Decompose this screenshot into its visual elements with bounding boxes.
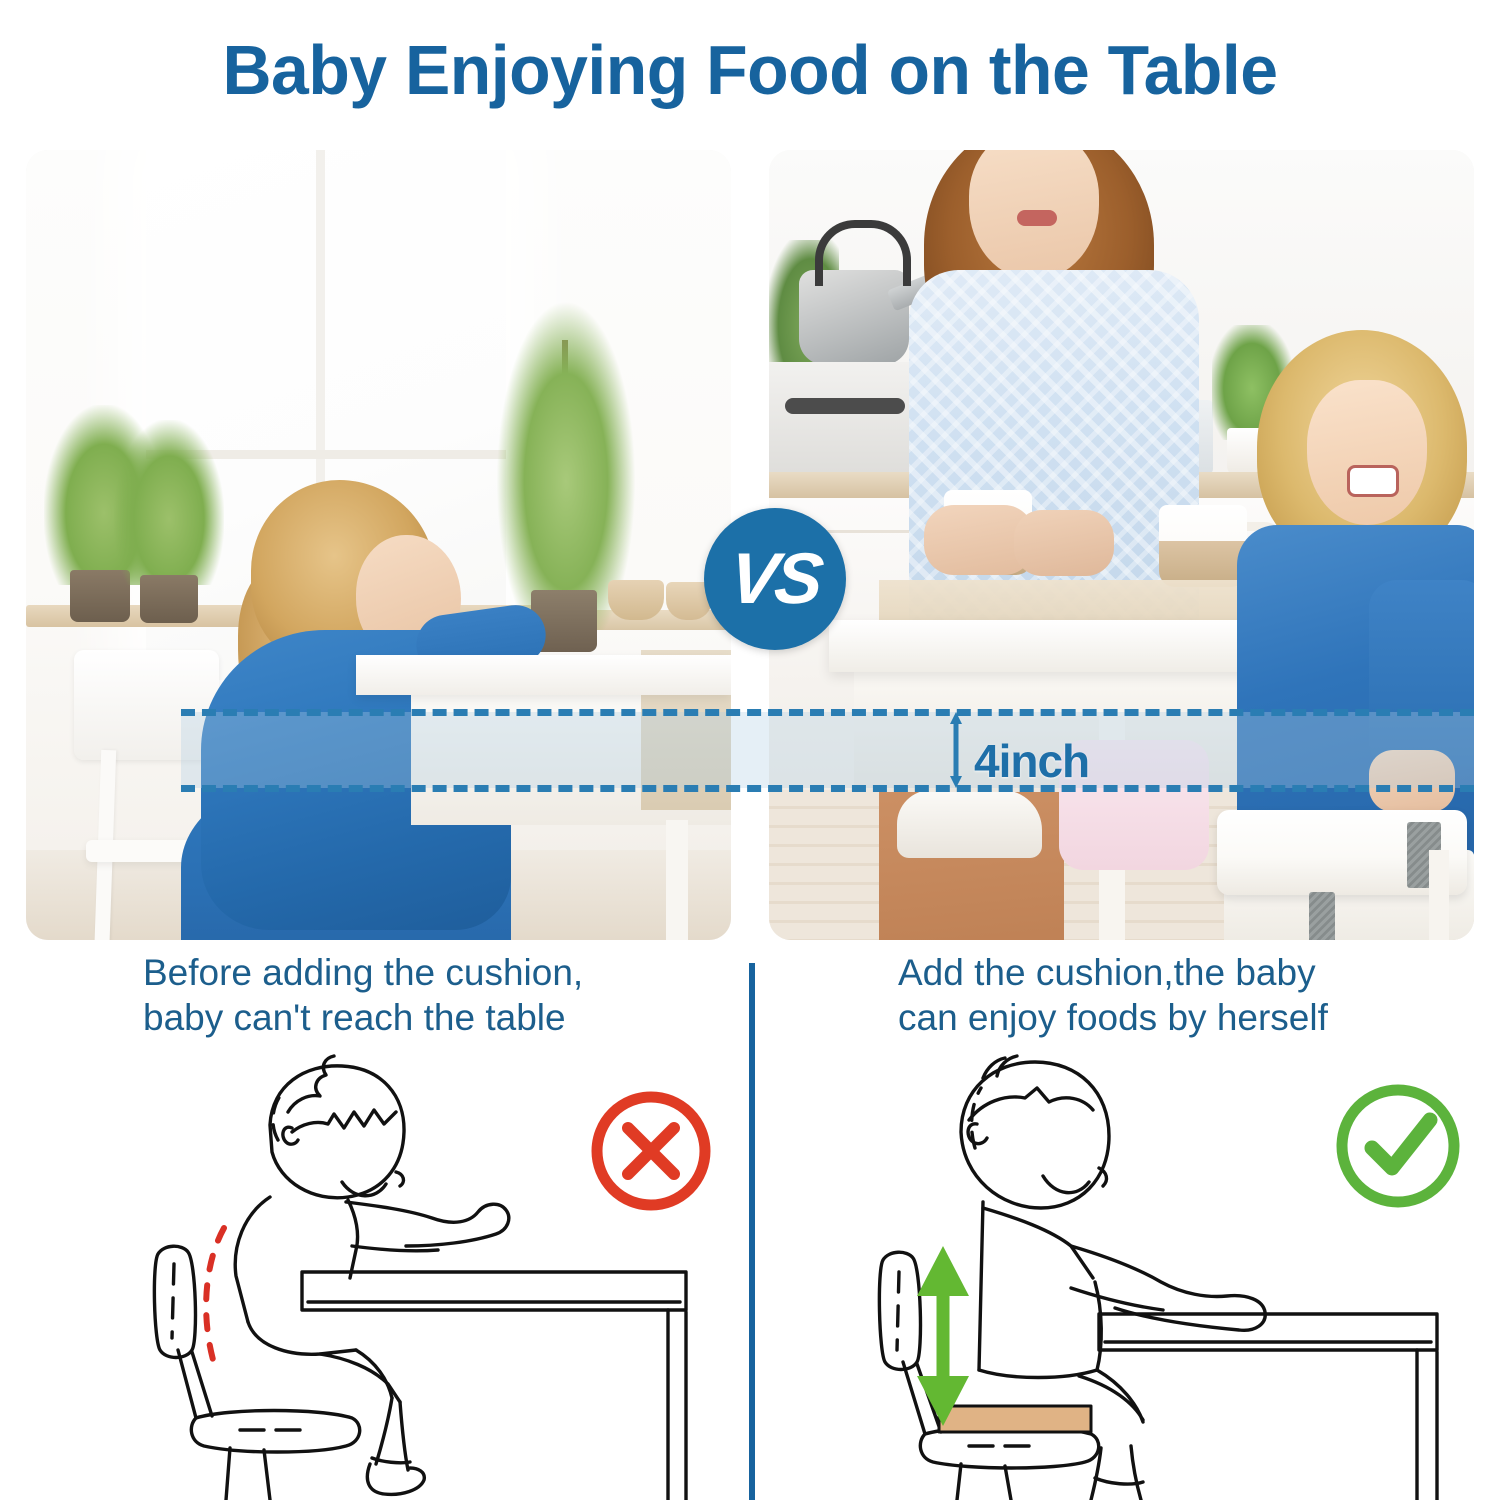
- bad-posture-indicator: [206, 1228, 224, 1370]
- mother-shoe: [897, 790, 1042, 858]
- child-hand: [1369, 750, 1455, 812]
- vs-label: VS: [726, 538, 825, 620]
- child-sleeve: [1369, 580, 1474, 770]
- photo-panel-before: [26, 150, 731, 940]
- table-top: [829, 620, 1299, 672]
- photo-panel-after: [769, 150, 1474, 940]
- table-top: [356, 655, 731, 695]
- child-face: [1307, 380, 1427, 525]
- table-leg: [666, 820, 688, 940]
- caption-before: Before adding the cushion, baby can't re…: [143, 950, 703, 1040]
- potted-plant-pot: [140, 575, 198, 623]
- stove-burner: [785, 398, 905, 414]
- infographic-page: Baby Enjoying Food on the Table: [0, 0, 1500, 1500]
- mother-lips: [1017, 210, 1057, 226]
- child-legs-tights: [1059, 740, 1209, 870]
- stove: [769, 362, 929, 472]
- caption-after: Add the cushion,the baby can enjoy foods…: [898, 950, 1458, 1040]
- height-gain-arrow-icon: [917, 1246, 969, 1426]
- cushion-strap: [1309, 892, 1335, 940]
- mug: [1159, 505, 1247, 587]
- kettle-handle: [815, 220, 911, 286]
- mother-sweater-knit-texture: [909, 270, 1199, 630]
- potted-plant-foliage: [114, 420, 224, 585]
- mother-hand: [1014, 510, 1114, 576]
- chair-backrest: [74, 650, 219, 760]
- check-mark-icon: [1330, 1078, 1466, 1214]
- page-title: Baby Enjoying Food on the Table: [23, 30, 1478, 110]
- bowl: [608, 580, 664, 620]
- chair-leg: [1429, 850, 1449, 940]
- vs-badge: VS: [704, 508, 846, 650]
- child-mouth: [1347, 465, 1399, 497]
- vertical-divider: [749, 963, 755, 1500]
- x-mark-icon: [588, 1088, 714, 1214]
